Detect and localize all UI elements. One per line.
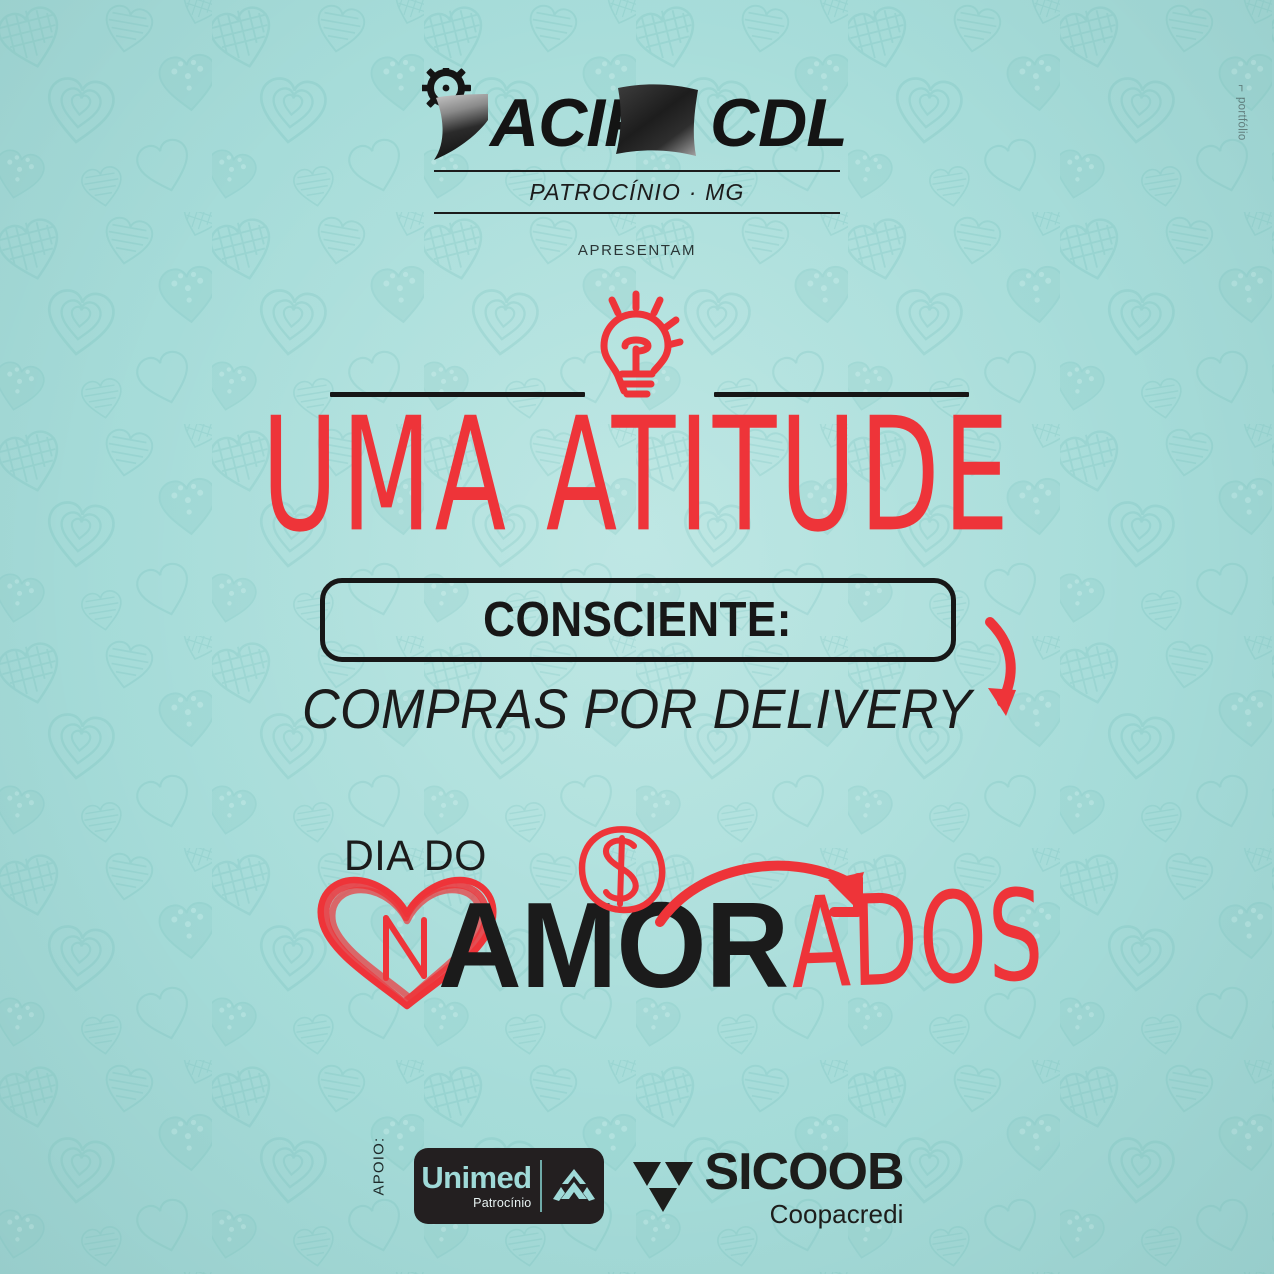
curved-arrow-right-icon: [652, 838, 902, 948]
unimed-symbol-icon: [551, 1165, 597, 1207]
acip-cdl-logo-graphic: ACIP CDL: [422, 68, 852, 164]
conscious-word-box: CONSCIENTE:: [320, 578, 956, 662]
sponsor-sicoob-sub: Coopacredi: [770, 1201, 904, 1227]
flag-icon: [616, 84, 698, 156]
unimed-divider: [540, 1160, 542, 1212]
presents-label: APRESENTAM: [0, 242, 1274, 259]
logo-city-band: PATROCÍNIO · MG: [434, 170, 840, 214]
curved-arrow-down-icon: [958, 612, 1038, 732]
swoosh-icon: [434, 94, 488, 160]
brand-logo: ACIP CDL PATROCÍNIO · MG: [0, 68, 1274, 214]
conscious-word-label: CONSCIENTE:: [484, 592, 793, 648]
support-label: APOIO:: [371, 1177, 388, 1195]
logo-wordmark-row: ACIP CDL: [422, 68, 852, 164]
logo-rule-bottom: [434, 212, 840, 214]
subtitle-delivery: COMPRAS POR DELIVERY: [45, 676, 1230, 741]
headline-uma-atitude: UMA ATITUDE: [102, 404, 1172, 549]
sicoob-triangle-icon: [630, 1156, 696, 1216]
sponsors-footer: APOIO: Unimed Patrocínio: [0, 1136, 1274, 1236]
sponsor-sicoob[interactable]: SICOOB Coopacredi: [630, 1146, 903, 1227]
poster-canvas: ⌐ portfólio: [0, 0, 1274, 1274]
logo-city-label: PATROCÍNIO · MG: [434, 172, 840, 212]
sponsor-unimed[interactable]: Unimed Patrocínio: [414, 1148, 604, 1224]
sponsor-sicoob-name: SICOOB: [704, 1146, 903, 1198]
sponsor-unimed-name: Unimed: [421, 1162, 531, 1193]
sponsor-unimed-sub: Patrocínio: [473, 1197, 531, 1210]
cdl-wordmark: CDL: [710, 85, 847, 161]
